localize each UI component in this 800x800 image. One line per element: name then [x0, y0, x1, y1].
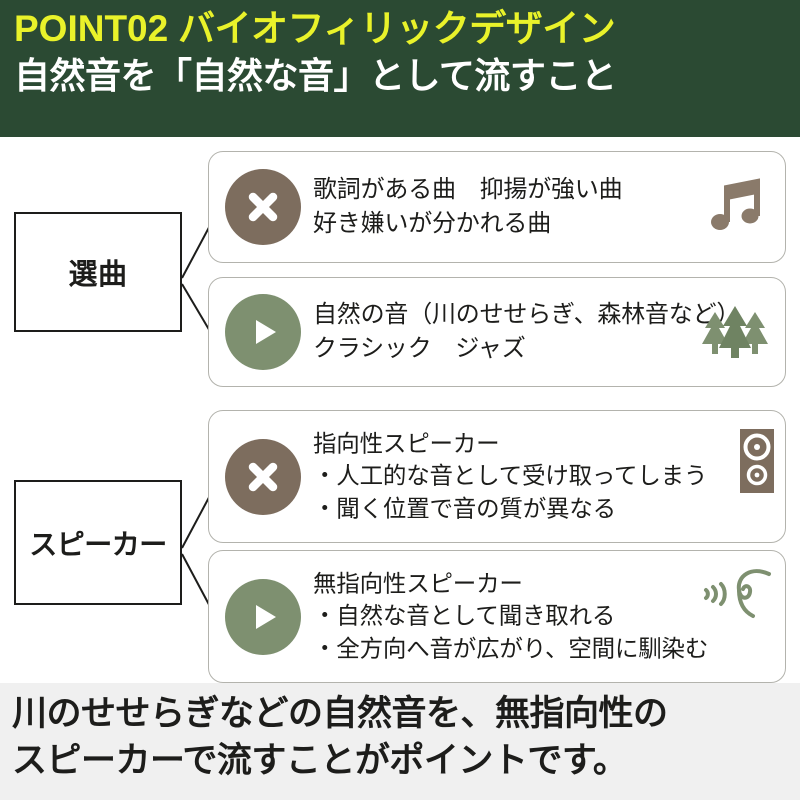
footer-summary: 川のせせらぎなどの自然音を、無指向性の スピーカーで流すことがポイントです。 — [0, 683, 800, 800]
header-subtitle: 自然音を「自然な音」として流すこと — [14, 53, 786, 98]
card-line: 無指向性スピーカー — [313, 567, 699, 600]
music-note-icon — [699, 171, 771, 243]
card-line: クラシック ジャズ — [313, 332, 699, 366]
diagram-body: 選曲 歌詞がある曲 抑揚が強い曲 好き嫌いが分かれる曲 — [0, 137, 800, 683]
play-icon — [225, 294, 301, 370]
cross-icon — [225, 439, 301, 515]
category-label: 選曲 — [68, 251, 127, 293]
group-speaker-type: スピーカー 指向性スピーカー ・人工的な音として受け取ってしまう ・聞く位置で音… — [0, 408, 800, 673]
card-line: ・聞く位置で音の質が異なる — [313, 493, 699, 526]
ear-listening-icon — [701, 563, 775, 625]
directional-speaker-icon — [737, 427, 777, 495]
category-box-song: 選曲 — [14, 212, 182, 332]
card-line: 歌詞がある曲 抑揚が強い曲 — [313, 173, 699, 207]
footer-line-2: スピーカーで流すことがポイントです。 — [12, 738, 788, 785]
category-box-speaker: スピーカー — [14, 480, 182, 605]
point-number-label: POINT02 — [14, 8, 168, 49]
play-icon — [225, 579, 301, 655]
card-line: 自然の音（川のせせらぎ、森林音など） — [313, 298, 699, 332]
point-title-text: バイオフィリックデザイン — [178, 8, 615, 49]
card-line: ・全方向へ音が広がり、空間に馴染む — [313, 633, 699, 666]
card-line: ・人工的な音として受け取ってしまう — [313, 460, 699, 493]
card-text-block: 指向性スピーカー ・人工的な音として受け取ってしまう ・聞く位置で音の質が異なる — [313, 427, 699, 526]
card-text-block: 歌詞がある曲 抑揚が強い曲 好き嫌いが分かれる曲 — [313, 173, 699, 241]
card-song-avoid: 歌詞がある曲 抑揚が強い曲 好き嫌いが分かれる曲 — [208, 151, 786, 263]
card-speaker-directional: 指向性スピーカー ・人工的な音として受け取ってしまう ・聞く位置で音の質が異なる — [208, 410, 786, 543]
card-line: 指向性スピーカー — [313, 427, 699, 460]
card-line: ・自然な音として聞き取れる — [313, 600, 699, 633]
card-speaker-omnidirectional: 無指向性スピーカー ・自然な音として聞き取れる ・全方向へ音が広がり、空間に馴染… — [208, 550, 786, 683]
footer-line-1: 川のせせらぎなどの自然音を、無指向性の — [12, 691, 788, 738]
category-label: スピーカー — [29, 523, 167, 563]
card-song-recommend: 自然の音（川のせせらぎ、森林音など） クラシック ジャズ — [208, 277, 786, 387]
card-line: 好き嫌いが分かれる曲 — [313, 207, 699, 241]
cross-icon — [225, 169, 301, 245]
header-title-line: POINT02 バイオフィリックデザイン — [14, 6, 786, 51]
group-song-selection: 選曲 歌詞がある曲 抑揚が強い曲 好き嫌いが分かれる曲 — [0, 146, 800, 396]
forest-trees-icon — [699, 296, 771, 368]
card-text-block: 無指向性スピーカー ・自然な音として聞き取れる ・全方向へ音が広がり、空間に馴染… — [313, 567, 699, 666]
header-banner: POINT02 バイオフィリックデザイン 自然音を「自然な音」として流すこと — [0, 0, 800, 137]
card-text-block: 自然の音（川のせせらぎ、森林音など） クラシック ジャズ — [313, 298, 699, 366]
